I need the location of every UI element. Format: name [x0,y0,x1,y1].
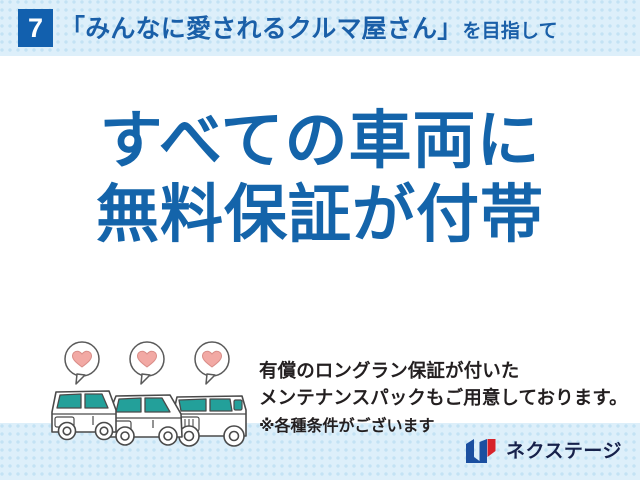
header-title-quoted: 「みんなに愛されるクルマ屋さん」 [60,15,462,43]
brand-name: ネクステージ [506,438,622,464]
headline: すべての車両に 無料保証が付帯 [0,104,640,252]
lower-section: 有償のロングラン保証が付いた メンテナンスパックもご用意しております。 ※各種条… [0,288,640,408]
section-number-badge: 7 [18,9,53,47]
header-title: 「みんなに愛されるクルマ屋さん」を目指して [60,11,558,47]
header-title-suffix: を目指して [462,21,557,42]
headline-line-2: 無料保証が付帯 [0,178,640,252]
description-line-1: 有償のロングラン保証が付いた [259,358,634,385]
content-panel: すべての車両に 無料保証が付帯 [0,56,640,423]
header-bar: 7 「みんなに愛されるクルマ屋さん」を目指して [0,0,640,56]
headline-line-1: すべての車両に [0,104,640,178]
description-line-2: メンテナンスパックもご用意しております。 [259,385,634,412]
nextage-n-mark-icon [465,438,499,464]
footer-bar: ネクステージ [0,423,640,480]
brand-logo: ネクステージ [465,437,622,465]
promo-banner: 7 「みんなに愛されるクルマ屋さん」を目指して すべての車両に 無料保証が付帯 [0,0,640,480]
